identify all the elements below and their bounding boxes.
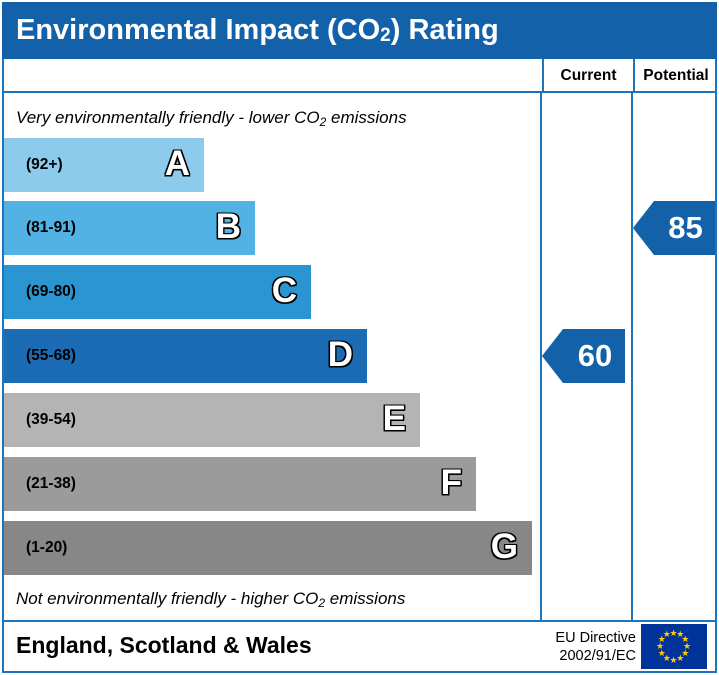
footer-directive-line2: 2002/91/EC (526, 647, 636, 665)
caption-bottom: Not environmentally friendly - higher CO… (16, 589, 536, 609)
column-header-potential: Potential (633, 59, 717, 93)
caption-top-suffix: emissions (326, 108, 406, 127)
footer: England, Scotland & Wales EU Directive 2… (2, 622, 717, 673)
current-rating-badge: 60 (563, 329, 625, 383)
band-letter-d: D (328, 335, 353, 375)
page-title-prefix: Environmental Impact (CO (16, 14, 380, 47)
band-bar-f: (21-38) F (4, 457, 476, 511)
epc-certificate: Environmental Impact (CO2) Rating Curren… (0, 0, 719, 675)
band-letter-e: E (383, 399, 406, 439)
column-divider-potential (631, 93, 633, 620)
column-header-row: Current Potential (2, 59, 717, 93)
band-bar-b: (81-91) B (4, 201, 255, 255)
band-letter-a: A (165, 144, 190, 184)
band-range-b: (81-91) (26, 219, 76, 237)
potential-rating-value: 85 (666, 210, 702, 246)
eu-flag-icon: ★★★★★★★★★★★★ (641, 624, 707, 669)
potential-badge-arrow-icon (633, 201, 654, 255)
band-range-f: (21-38) (26, 475, 76, 493)
current-rating-value: 60 (576, 338, 612, 374)
caption-top-prefix: Very environmentally friendly - lower CO (16, 108, 320, 127)
footer-directive: EU Directive 2002/91/EC (526, 629, 636, 665)
page-title-suffix: ) Rating (391, 14, 499, 47)
band-bar-e: (39-54) E (4, 393, 420, 447)
band-range-a: (92+) (26, 156, 63, 174)
potential-rating-badge: 85 (654, 201, 715, 255)
eu-star-icon: ★ (663, 630, 671, 639)
band-letter-f: F (441, 463, 462, 503)
caption-bottom-suffix: emissions (325, 589, 405, 608)
band-range-g: (1-20) (26, 539, 67, 557)
caption-top: Very environmentally friendly - lower CO… (16, 108, 536, 128)
footer-region-label: England, Scotland & Wales (16, 632, 312, 659)
band-range-c: (69-80) (26, 283, 76, 301)
band-letter-b: B (216, 207, 241, 247)
band-bar-a: (92+) A (4, 138, 204, 192)
column-header-current: Current (542, 59, 633, 93)
band-bar-g: (1-20) G (4, 521, 532, 575)
band-letter-g: G (491, 527, 518, 567)
band-range-e: (39-54) (26, 411, 76, 429)
footer-directive-line1: EU Directive (526, 629, 636, 647)
rating-bars: (92+) A (81-91) B (69-80) C (55-68) D (3… (4, 138, 540, 583)
band-range-d: (55-68) (26, 347, 76, 365)
current-badge-arrow-icon (542, 329, 563, 383)
band-bar-d: (55-68) D (4, 329, 367, 383)
caption-bottom-subscript: 2 (318, 596, 325, 610)
page-title: Environmental Impact (CO2) Rating (2, 2, 717, 59)
band-bar-c: (69-80) C (4, 265, 311, 319)
band-letter-c: C (272, 271, 297, 311)
caption-top-subscript: 2 (320, 115, 327, 129)
page-title-subscript: 2 (380, 25, 391, 47)
caption-bottom-prefix: Not environmentally friendly - higher CO (16, 589, 318, 608)
